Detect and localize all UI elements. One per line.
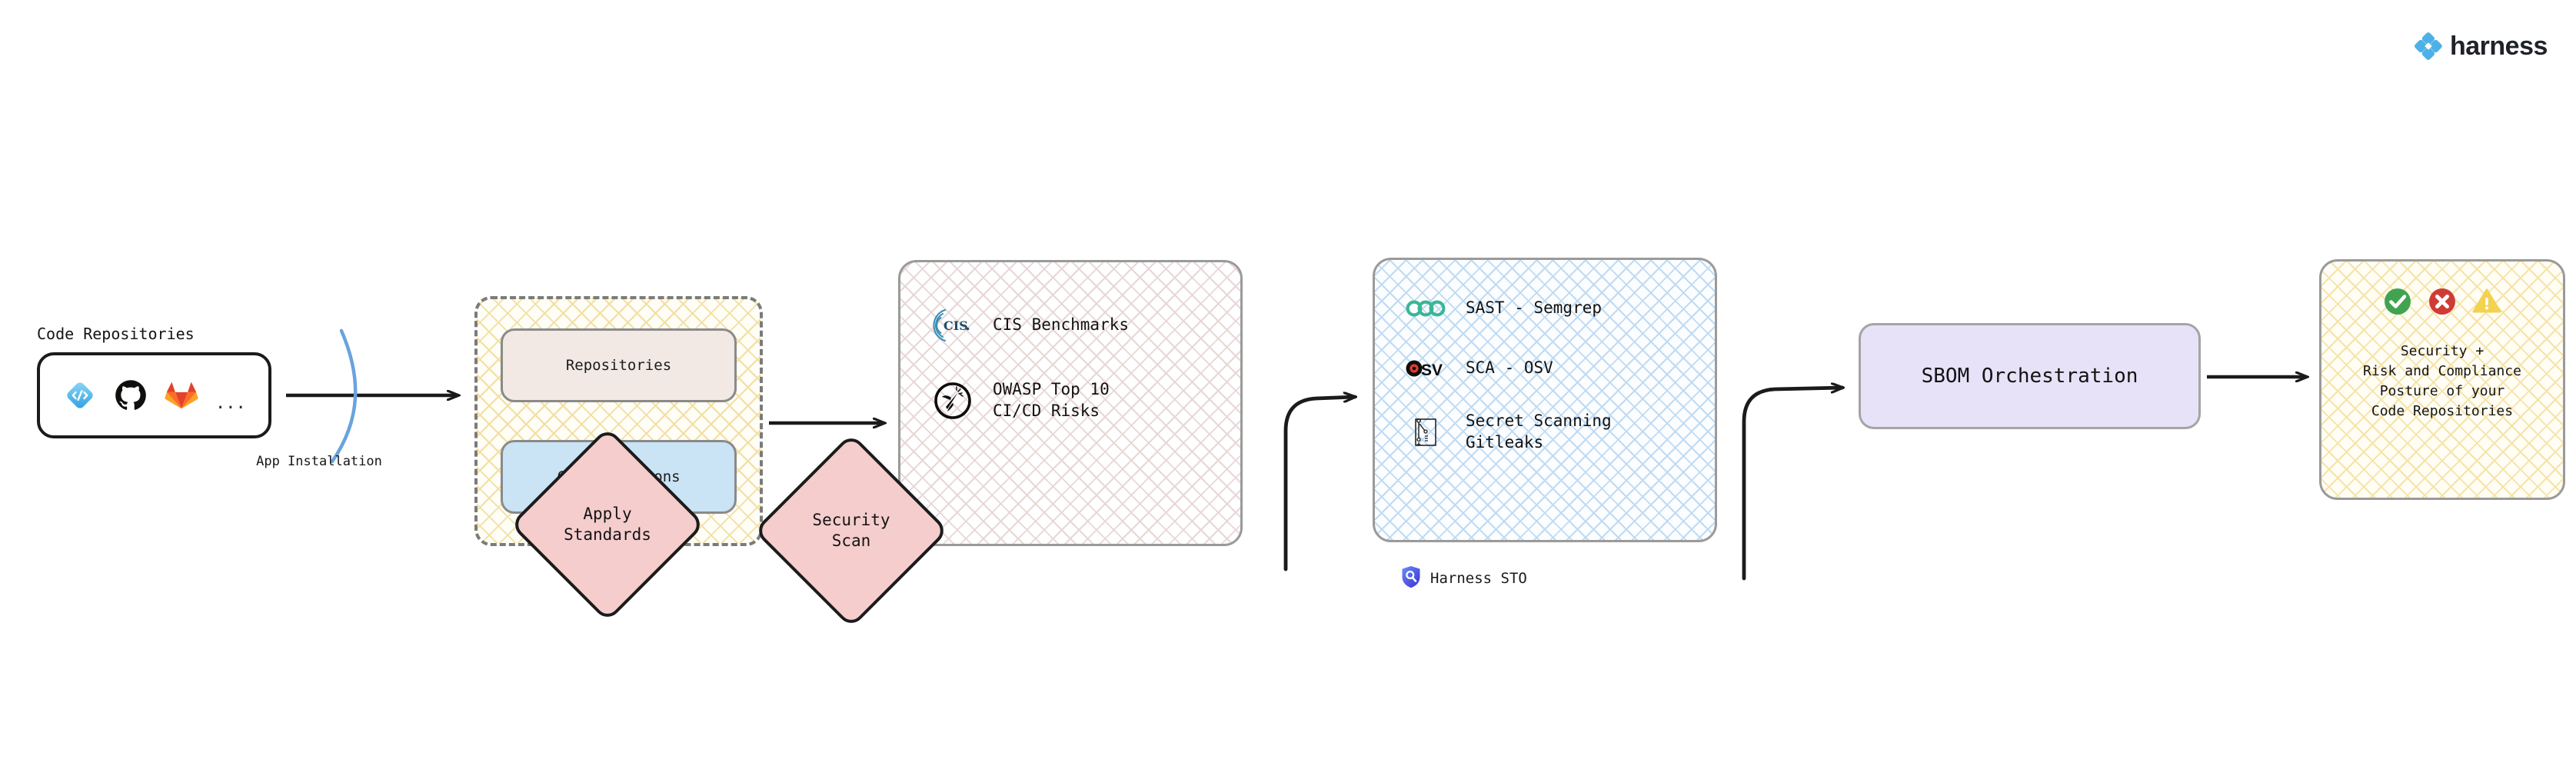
- harness-sto-shield-icon: [1401, 565, 1421, 591]
- security-scan-panel: SAST - Semgrep SV SCA - OSV: [1373, 258, 1717, 542]
- semgrep-logo-icon: [1406, 291, 1446, 326]
- osv-logo-icon: SV: [1406, 351, 1446, 386]
- harness-logo-wordmark: harness: [2450, 33, 2548, 59]
- code-repositories-title: Code Repositories: [37, 325, 195, 343]
- standards-row-label: OWASP Top 10 CI/CD Risks: [993, 379, 1110, 421]
- harness-sto-label: Harness STO: [1430, 570, 1527, 587]
- scan-row: SAST - Semgrep: [1406, 291, 1715, 326]
- outcome-label: Security + Risk and Compliance Posture o…: [2321, 342, 2563, 421]
- error-cross-icon: [2425, 285, 2459, 318]
- svg-text:SV: SV: [1421, 362, 1443, 378]
- harness-logo: harness: [2415, 32, 2548, 60]
- code-repositories-box: ...: [37, 352, 271, 438]
- scan-row-label: SCA - OSV: [1466, 358, 1553, 379]
- scan-row: Secret Scanning Gitleaks: [1406, 411, 1715, 453]
- harness-sto-caption: Harness STO: [1401, 565, 1527, 591]
- app-installation-label: App Installation: [250, 454, 388, 470]
- standards-panel: CIS CIS Benchmarks: [898, 260, 1243, 546]
- apply-standards-label: Apply Standards: [538, 455, 677, 594]
- gitleaks-logo-icon: [1406, 415, 1446, 450]
- harness-diamond-logo-icon: [2415, 32, 2442, 60]
- security-scan-diamond: Security Scan: [782, 461, 920, 600]
- sbom-orchestration-box: SBOM Orchestration: [1859, 323, 2201, 429]
- outcome-status-icons: [2321, 285, 2563, 318]
- github-icon: [114, 378, 148, 412]
- standards-row: OWASP Top 10 CI/CD Risks: [933, 379, 1240, 421]
- arrow-apply-to-scan: [1286, 397, 1355, 569]
- security-scan-label: Security Scan: [782, 461, 920, 600]
- apply-standards-diamond: Apply Standards: [538, 455, 677, 594]
- svg-text:CIS: CIS: [944, 318, 968, 333]
- cis-logo-icon: CIS: [933, 305, 973, 345]
- app-installation-arc: [332, 331, 355, 461]
- success-check-icon: [2381, 285, 2415, 318]
- standards-row: CIS CIS Benchmarks: [933, 305, 1240, 345]
- standards-row-label: CIS Benchmarks: [993, 315, 1129, 336]
- owasp-logo-icon: [933, 381, 973, 421]
- scan-row-label: SAST - Semgrep: [1466, 298, 1602, 319]
- warning-triangle-icon: [2470, 285, 2504, 318]
- arrow-scan-to-sbom: [1744, 388, 1842, 578]
- scan-row: SV SCA - OSV: [1406, 351, 1715, 386]
- scan-row-label: Secret Scanning Gitleaks: [1466, 411, 1612, 453]
- outcome-box: Security + Risk and Compliance Posture o…: [2319, 259, 2565, 500]
- gitlab-icon: [165, 378, 198, 412]
- harness-code-icon: [63, 378, 97, 412]
- more-repos-ellipsis: ...: [215, 394, 246, 413]
- repositories-chip[interactable]: Repositories: [501, 328, 737, 402]
